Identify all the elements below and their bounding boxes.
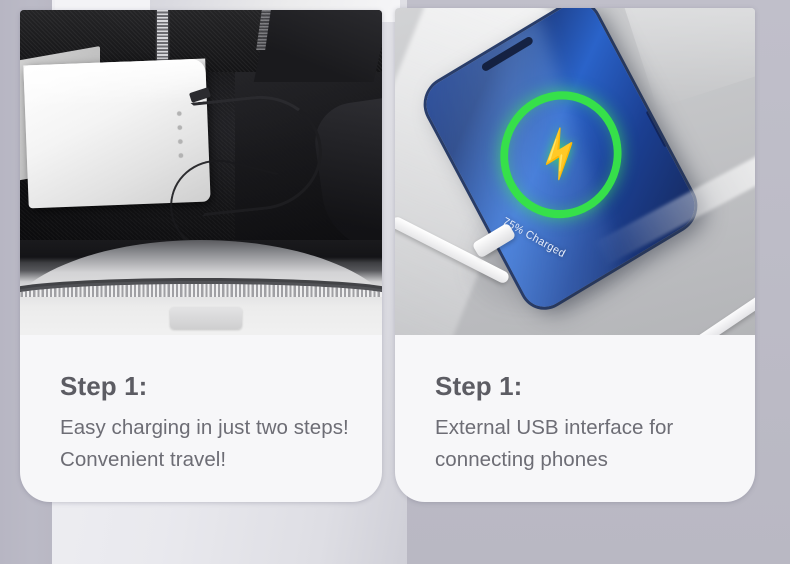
feature-card-left[interactable]: Step 1: Easy charging in just two steps!… xyxy=(20,10,382,502)
grey-backdrop: ⚡ 75% Charged xyxy=(395,8,755,335)
step-description: External USB interface for connecting ph… xyxy=(435,412,731,476)
backpack-interior xyxy=(20,10,382,335)
led-dot xyxy=(179,153,183,157)
led-dot xyxy=(178,126,182,130)
led-dot xyxy=(177,112,181,116)
lining-tab xyxy=(170,307,242,329)
secondary-cable xyxy=(627,286,755,335)
backdrop-light-corner xyxy=(620,8,755,108)
led-indicator-dots xyxy=(177,111,185,171)
step-description: Easy charging in just two steps! Conveni… xyxy=(60,412,358,476)
caption-right: Step 1: External USB interface for conne… xyxy=(395,335,755,476)
step-title: Step 1: xyxy=(435,373,731,400)
led-dot xyxy=(178,139,182,143)
step-title: Step 1: xyxy=(60,373,358,400)
phone-side-button xyxy=(646,110,668,147)
feature-card-right[interactable]: ⚡ 75% Charged Step 1: External USB inter… xyxy=(395,8,755,502)
product-photo-powerbank-in-backpack xyxy=(20,10,382,335)
product-photo-phone-charging: ⚡ 75% Charged xyxy=(395,8,755,335)
backpack-lining xyxy=(20,240,382,335)
caption-left: Step 1: Easy charging in just two steps!… xyxy=(20,335,382,476)
